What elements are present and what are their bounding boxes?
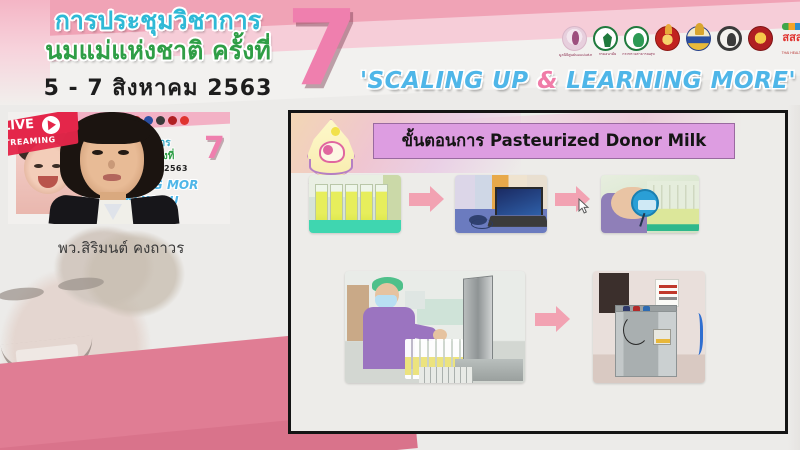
sponsor-logo-strip: มูลนิธิศูนย์นมแม่แห่งประเทศไทย กรมอนามัย… [562,26,800,51]
slide-title-banner: ขั้นตอนการ Pasteurized Donor Milk [373,123,735,159]
university-seal-logo [717,26,742,51]
step-arrow-2 [555,193,577,206]
presentation-slide: THAI HUMAN MILK BANK ขั้นตอนการ Pasteuri… [288,110,788,434]
red-crest-logo [748,26,773,51]
live-streaming-badge: LIVE STREAMING [8,112,84,158]
conference-dates: 5 - 7 สิงหาคม 2563 [18,70,298,105]
right-edge-gradient [788,105,800,450]
live-badge-label: LIVE [8,117,35,134]
step-arrow-3 [535,313,557,326]
slide-title-text: ขั้นตอนการ Pasteurized Donor Milk [402,128,707,154]
conference-header-banner: การประชุมวิชาการ นมแม่แห่งชาติ ครั้งที่ … [0,0,800,105]
tagline-part-1: 'SCALING UP [360,68,537,94]
speaker-name-label: พว.สิริมนต์ คงถาวร [58,236,184,260]
conference-title-line1: การประชุมวิชาการ [28,6,288,36]
conference-tagline: 'SCALING UP & LEARNING MORE' [360,68,790,94]
edition-number: 7 [286,0,358,100]
tagline-ampersand: & [537,68,558,94]
sss-logo-text: สสส [779,28,800,46]
slide-viewer: การประชุมวิชาการ นมแม่แห่งชาติ ครั้งที่ … [0,0,800,450]
backdrop-edition-number: 7 [204,134,225,164]
conference-title-line2: นมแม่แห่งชาติ ครั้งที่ [18,36,298,66]
photo-milk-bottle-racks [309,175,401,233]
health-department-logo: กระทรวงสาธารณสุข [624,26,649,51]
royal-college-logo [655,26,680,51]
speaker-video-feed[interactable]: การประชุมวิชาการ นมแม่แห่งชาติ ครั้งที่ … [8,112,230,224]
step-arrow-1 [409,193,431,206]
tagline-part-2: LEARNING MORE' [558,68,796,94]
photo-pasteurizer-machine [593,271,705,383]
ministry-public-health-logo: กรมอนามัย [593,26,618,51]
mouse-cursor-icon [578,198,590,214]
photo-nurse-loading-bottles [345,271,525,383]
photo-laptop-data-entry [455,175,547,233]
royal-patronage-logo: มูลนิธิศูนย์นมแม่แห่งประเทศไทย [562,26,587,51]
thaihealth-sss-logo: สสส THAI HEALTH [779,26,800,51]
thai-emblem-logo [686,26,711,51]
sss-logo-subtext: THAI HEALTH [777,51,800,55]
photo-hand-thermometer [601,175,699,233]
